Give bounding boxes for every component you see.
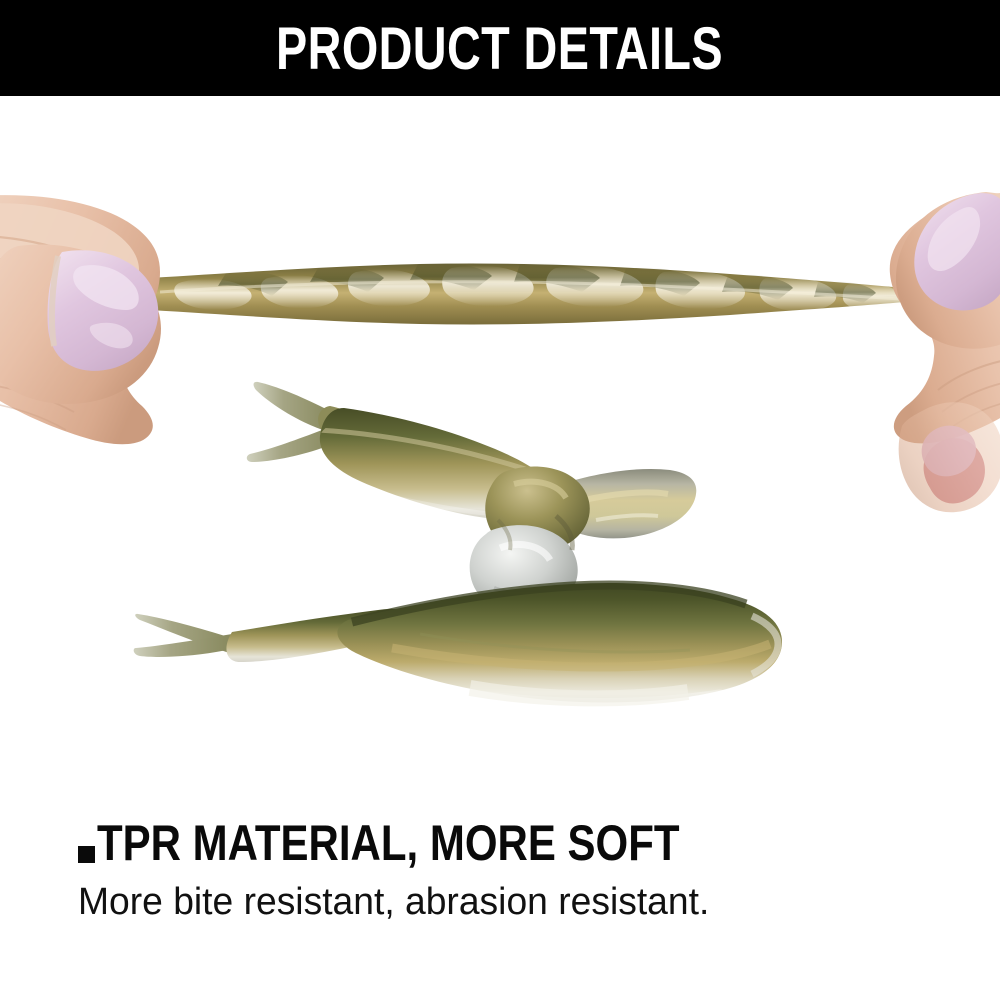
feature-heading-text: TPR MATERIAL, MORE SOFT <box>97 818 680 868</box>
feature-subtext: More bite resistant, abrasion resistant. <box>78 880 709 924</box>
header-banner: PRODUCT DETAILS <box>0 0 1000 96</box>
product-detail-page: PRODUCT DETAILS <box>0 0 1000 1000</box>
page-title: PRODUCT DETAILS <box>277 19 724 79</box>
bullet-square-icon <box>78 846 95 863</box>
product-photo <box>0 96 1000 796</box>
left-hand-grip <box>0 195 161 444</box>
feature-caption-block: TPR MATERIAL, MORE SOFT More bite resist… <box>0 800 1000 1000</box>
feature-heading: TPR MATERIAL, MORE SOFT <box>78 818 790 868</box>
product-photo-area <box>0 96 1000 796</box>
